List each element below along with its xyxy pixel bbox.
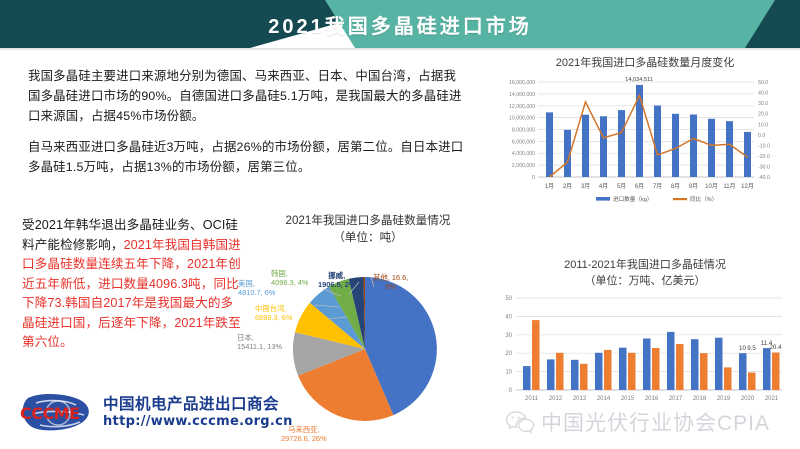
svg-text:5月: 5月 (617, 183, 626, 190)
svg-text:2015: 2015 (621, 396, 635, 402)
pie-chart-title: 2021年我国进口多晶硅数量情况 （单位：吨） (243, 213, 493, 247)
svg-text:50: 50 (505, 296, 512, 302)
svg-text:12月: 12月 (741, 183, 754, 190)
yearly-x-labels: 201120122013 201420152016 201720182019 2… (525, 396, 779, 402)
svg-text:-40.0: -40.0 (758, 175, 770, 181)
page-title: 2021我国多晶硅进口市场 (0, 0, 800, 48)
monthly-y-right-ticks: 50.040.0 30.020.0 10.00.0 -10.0-20.0 -30… (758, 80, 770, 181)
svg-text:-10.0: -10.0 (758, 143, 770, 149)
yearly-chart-title-main: 2011-2021年我国进口多晶硅情况 (492, 258, 798, 274)
svg-text:11月: 11月 (723, 183, 735, 190)
intro-paragraph-1: 我国多晶硅主要进口来源地分别为德国、马来西亚、日本、中国台湾，占据我国多晶硅进口… (28, 66, 468, 126)
svg-text:20.4: 20.4 (769, 344, 782, 351)
intro-paragraphs: 我国多晶硅主要进口来源地分别为德国、马来西亚、日本、中国台湾，占据我国多晶硅进口… (28, 66, 468, 188)
svg-text:30: 30 (505, 333, 512, 339)
monthly-legend: 进口数量（kg） 同比（%） (596, 195, 717, 203)
svg-text:2月: 2月 (563, 183, 572, 190)
monthly-y-left-ticks: 16,000,00014,000,000 12,000,00010,000,00… (509, 80, 535, 181)
yearly-chart-title: 2011-2021年我国进口多晶硅情况 （单位：万吨、亿美元） (492, 258, 798, 290)
svg-text:2014: 2014 (597, 396, 611, 402)
pie-label-taiwan: 中国台湾,6899.3, 6% (255, 304, 292, 323)
svg-text:10月: 10月 (705, 183, 718, 190)
svg-text:-20.0: -20.0 (758, 154, 770, 160)
pie-label-japan: 日本,15411.1, 13% (237, 333, 282, 352)
svg-text:30.0: 30.0 (758, 101, 768, 107)
svg-text:10: 10 (505, 369, 512, 375)
pie-chart-title-main: 2021年我国进口多晶硅数量情况 (243, 213, 493, 230)
svg-text:8月: 8月 (671, 183, 680, 190)
pie-label-korea: 韩国,4096.3, 4% (271, 269, 308, 288)
pie-chart-subtitle: （单位：吨） (243, 230, 493, 247)
monthly-peak-label: 14,034,511 (625, 77, 653, 83)
svg-text:同比（%）: 同比（%） (690, 195, 717, 203)
svg-text:12,000,000: 12,000,000 (509, 104, 535, 110)
svg-text:2011: 2011 (525, 396, 539, 402)
svg-text:0: 0 (509, 388, 513, 394)
svg-text:2,000,000: 2,000,000 (512, 163, 535, 169)
svg-text:14,000,000: 14,000,000 (509, 92, 535, 98)
pie-label-other: 其他, 16.6,0% (373, 273, 408, 292)
svg-text:40.0: 40.0 (758, 91, 768, 97)
svg-text:2017: 2017 (669, 396, 683, 402)
svg-text:2021: 2021 (765, 396, 779, 402)
svg-text:40: 40 (505, 314, 512, 320)
header-shadow (0, 48, 800, 51)
monthly-chart-svg: 16,000,00014,000,000 12,000,00010,000,00… (492, 72, 798, 204)
svg-text:0: 0 (532, 175, 535, 181)
yearly-y-ticks: 504030 20100 (505, 296, 512, 394)
monthly-chart-title: 2021年我国进口多晶硅数量月度变化 (492, 56, 798, 72)
svg-text:3月: 3月 (581, 183, 590, 190)
yearly-data-labels: 10 9.5 11.4 20.4 (739, 340, 782, 352)
pie-label-usa: 美国,4810.7, 6% (238, 279, 275, 298)
svg-text:2016: 2016 (645, 396, 659, 402)
svg-text:2020: 2020 (741, 396, 755, 402)
svg-text:6,000,000: 6,000,000 (512, 139, 535, 145)
yearly-chart-svg: 504030 20100 (492, 290, 798, 415)
cccme-logo: CCCME 中国机电产品进出口商会 http://www.cccme.org.c… (18, 388, 263, 440)
svg-text:6月: 6月 (635, 183, 644, 190)
svg-text:7月: 7月 (653, 183, 662, 190)
intro-paragraph-2: 自马来西亚进口多晶硅近3万吨，占据26%的市场份额，居第二位。自日本进口多晶硅1… (28, 137, 468, 177)
monthly-import-chart: 2021年我国进口多晶硅数量月度变化 16,000,00014,000,000 … (492, 56, 798, 212)
svg-text:2012: 2012 (549, 396, 563, 402)
yearly-chart-subtitle: （单位：万吨、亿美元） (492, 274, 798, 290)
pie-label-norway: 挪威,1906.5, 2% (318, 271, 355, 290)
svg-text:10: 10 (739, 345, 746, 352)
svg-text:8,000,000: 8,000,000 (512, 127, 535, 133)
korea-commentary-red: 2021年我国自韩国进口多晶硅数量连续五年下降，2021年创近五年新低，进口数量… (22, 238, 241, 350)
svg-text:9.5: 9.5 (747, 345, 756, 352)
svg-text:20: 20 (505, 351, 512, 357)
svg-text:0.0: 0.0 (758, 133, 765, 139)
svg-text:1月: 1月 (545, 183, 554, 190)
cccme-abbr: CCCME (20, 404, 80, 423)
pie-label-germany: 德国, 51316,45% (389, 327, 431, 346)
korea-commentary: 受2021年韩华退出多晶硅业务、OCI硅料产能检修影响，2021年我国自韩国进口… (22, 216, 242, 353)
svg-text:10,000,000: 10,000,000 (509, 116, 535, 122)
yearly-bars (523, 320, 780, 390)
page-header: 2021我国多晶硅进口市场 (0, 0, 800, 48)
svg-text:9月: 9月 (689, 183, 698, 190)
svg-text:16,000,000: 16,000,000 (509, 80, 535, 86)
svg-text:2018: 2018 (693, 396, 707, 402)
svg-text:2019: 2019 (717, 396, 731, 402)
svg-text:-30.0: -30.0 (758, 165, 770, 171)
pie-label-malaysia: 马来西亚,29726.6, 26% (281, 425, 327, 444)
svg-text:20.0: 20.0 (758, 112, 768, 118)
svg-text:10.0: 10.0 (758, 122, 768, 128)
svg-text:4月: 4月 (599, 183, 608, 190)
yearly-import-chart: 2011-2021年我国进口多晶硅情况 （单位：万吨、亿美元） 504030 2… (492, 258, 798, 423)
pie-chart-panel: 2021年我国进口多晶硅数量情况 （单位：吨） (243, 213, 493, 449)
svg-text:4,000,000: 4,000,000 (512, 151, 535, 157)
svg-text:进口数量（kg）: 进口数量（kg） (613, 195, 652, 203)
pie-chart-area: 德国, 51316,45% 马来西亚,29726.6, 26% 日本,15411… (243, 249, 493, 449)
svg-text:50.0: 50.0 (758, 80, 768, 86)
monthly-x-labels: 1月2月3月 4月5月6月 7月8月9月 10月11月12月 (545, 183, 754, 190)
svg-text:2013: 2013 (573, 396, 587, 402)
